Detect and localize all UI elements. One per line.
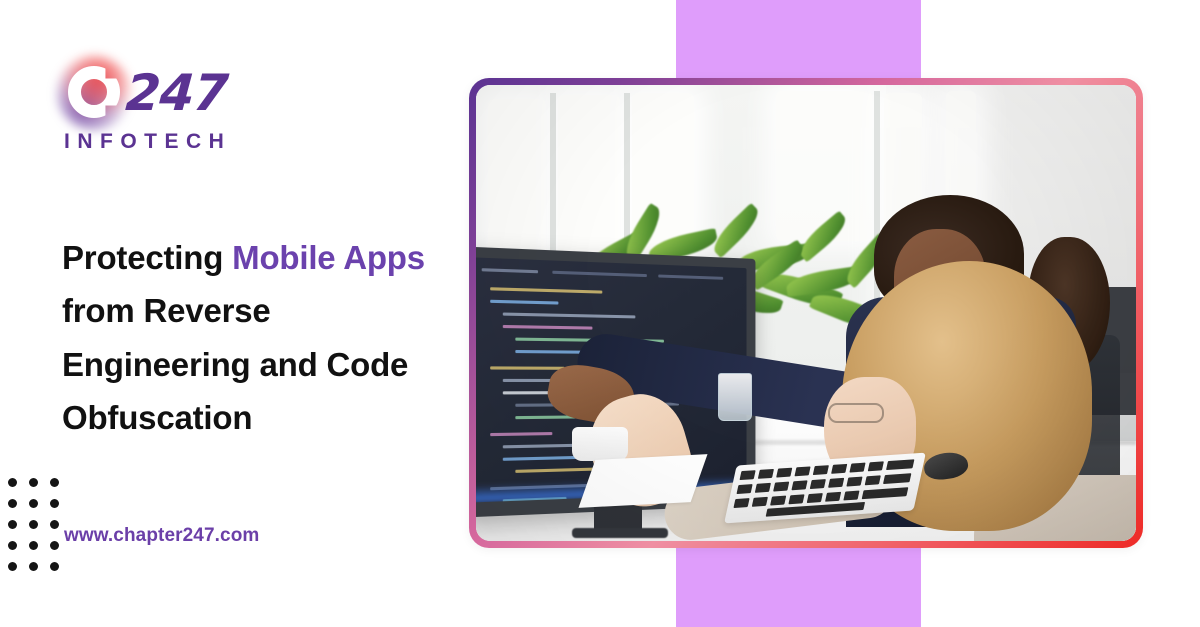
monitor-base <box>572 528 668 538</box>
dot <box>29 499 38 508</box>
headline-highlight-mobile: Mobile <box>232 239 335 276</box>
hero-image <box>476 85 1136 541</box>
dot-grid-decoration <box>8 478 71 583</box>
hero-image-frame <box>469 78 1143 548</box>
headline-part-3: from Reverse Engineering and Code Obfusc… <box>62 292 408 436</box>
glass-of-water <box>718 373 752 421</box>
logo-subtitle: INFOTECH <box>64 130 292 154</box>
brand-logo[interactable]: 247 INFOTECH <box>62 62 292 162</box>
dot <box>29 520 38 529</box>
page-title: Protecting Mobile Apps from Reverse Engi… <box>62 231 432 445</box>
dot <box>50 520 59 529</box>
left-content-column: 247 INFOTECH Protecting Mobile Apps from… <box>0 0 470 627</box>
dot <box>29 562 38 571</box>
eyeglasses <box>828 403 884 423</box>
white-cup <box>572 427 628 461</box>
dot <box>8 478 17 487</box>
office-scene <box>476 85 1136 541</box>
dot <box>50 562 59 571</box>
website-url[interactable]: www.chapter247.com <box>64 525 259 547</box>
paper-sheet <box>578 454 707 508</box>
dot <box>29 478 38 487</box>
dot <box>8 541 17 550</box>
dot <box>50 499 59 508</box>
dot <box>8 499 17 508</box>
dot <box>29 541 38 550</box>
dot <box>8 520 17 529</box>
logo-wordmark-row: 247 <box>62 62 292 124</box>
c-monogram-icon <box>62 62 124 124</box>
dot <box>8 562 17 571</box>
dot <box>50 541 59 550</box>
dot <box>50 478 59 487</box>
headline-highlight-apps: Apps <box>343 239 425 276</box>
logo-number: 247 <box>124 68 229 118</box>
headline-part-1: Protecting <box>62 239 232 276</box>
